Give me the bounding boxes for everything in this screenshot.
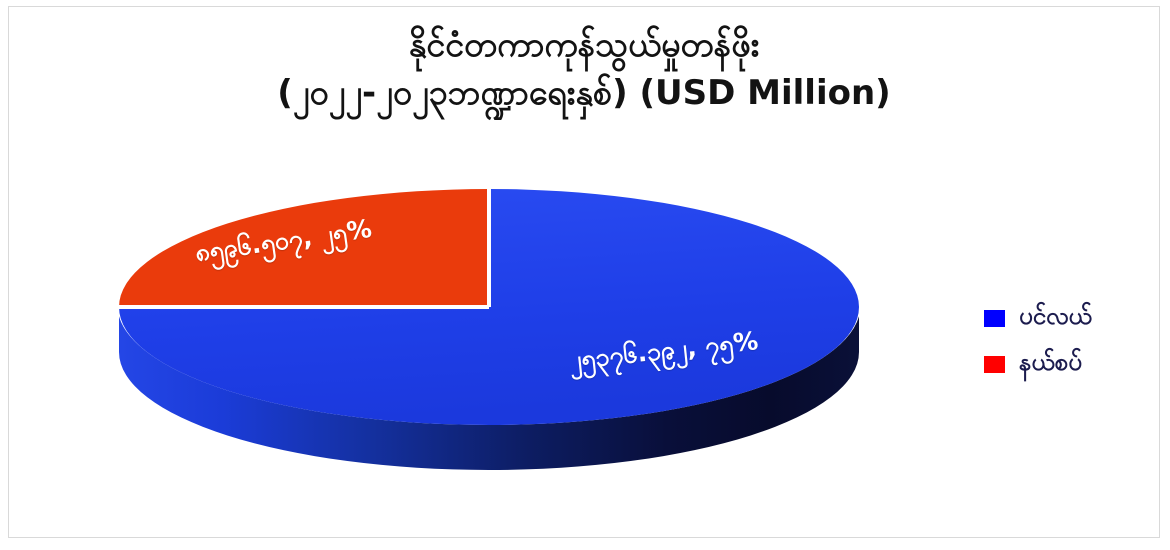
legend-item-sea[interactable]: ပင်လယ် xyxy=(984,295,1144,341)
legend-label-sea: ပင်လယ် xyxy=(1019,300,1092,336)
pie-3d-graphic xyxy=(104,177,874,497)
pie-chart-plot-area: ၈၅၉၆.၅၀၇, ၂၅% ၂၅၃၇၆.၃၉၂, ၇၅% ပင်လယ် နယ်စ… xyxy=(9,7,1161,539)
chart-frame: နိုင်ငံတကာကုန်သွယ်မှုတန်ဖိုး (၂၀၂၂-၂၀၂၃ဘ… xyxy=(8,6,1160,538)
legend-item-border[interactable]: နယ်စပ် xyxy=(984,341,1144,387)
chart-legend: ပင်လယ် နယ်စပ် xyxy=(984,295,1144,387)
legend-label-border: နယ်စပ် xyxy=(1019,346,1082,382)
legend-swatch-border xyxy=(984,356,1005,373)
legend-swatch-sea xyxy=(984,310,1005,327)
